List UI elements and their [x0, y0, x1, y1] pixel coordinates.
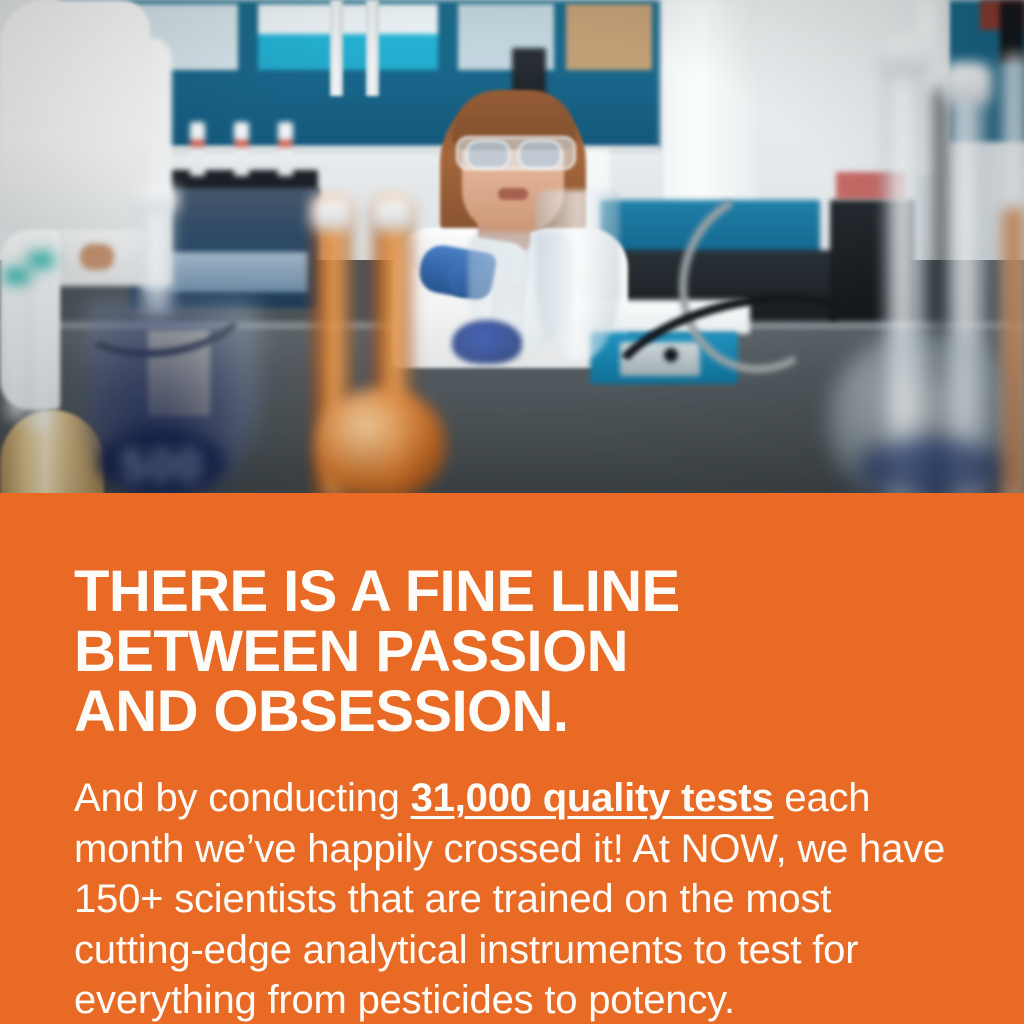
- social-post-canvas: 500 THERE IS A FINE LINE BETWEEN PASSION…: [0, 0, 1024, 1024]
- quality-tests-highlight: 31,000 quality tests: [411, 776, 774, 820]
- page-title: THERE IS A FINE LINE BETWEEN PASSION AND…: [74, 562, 954, 742]
- orange-text-panel: THERE IS A FINE LINE BETWEEN PASSION AND…: [0, 493, 1024, 1024]
- body-lead-text: And by conducting: [74, 776, 411, 820]
- body-paragraph: And by conducting 31,000 quality tests e…: [74, 773, 958, 1024]
- photo-vignette: [0, 0, 1024, 493]
- laboratory-photo: 500: [0, 0, 1024, 493]
